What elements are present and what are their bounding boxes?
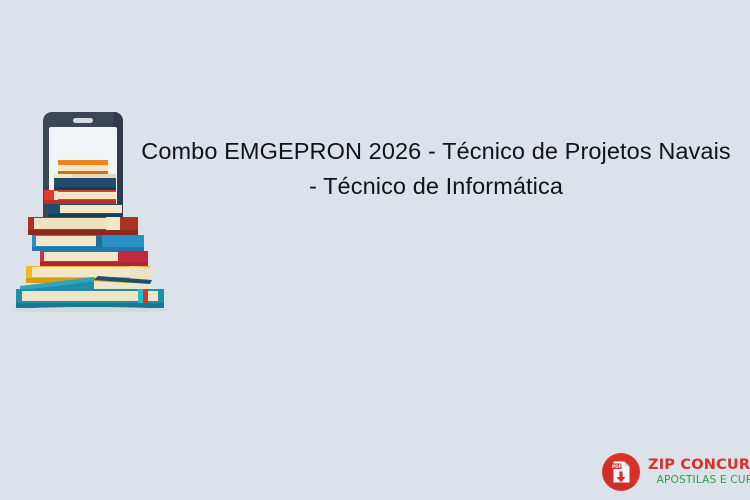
book-darkred — [28, 217, 138, 235]
brand-logo[interactable]: PDF ZIP CONCURSOS APOSTILAS E CURSOS — [601, 450, 746, 494]
book-navy-2 — [48, 204, 122, 217]
logo-title-text: ZIP CONCURSOS — [648, 458, 750, 473]
product-banner: Combo EMGEPRON 2026 - Técnico de Projeto… — [0, 0, 750, 500]
book-navy-1 — [54, 174, 116, 190]
pdf-download-icon: PDF — [601, 452, 641, 492]
svg-text:PDF: PDF — [612, 464, 622, 469]
book-crimson — [40, 251, 148, 266]
page-title: Combo EMGEPRON 2026 - Técnico de Projeto… — [136, 134, 736, 204]
book-top-orange — [58, 160, 108, 174]
book-red-1 — [44, 190, 116, 204]
logo-subtitle-text: APOSTILAS E CURSOS — [648, 475, 750, 486]
product-title-text: Combo EMGEPRON 2026 - Técnico de Projeto… — [136, 134, 736, 204]
logo-wordmark: ZIP CONCURSOS APOSTILAS E CURSOS — [648, 458, 750, 486]
book-bottom-teal — [16, 289, 164, 308]
book-blue-mid — [32, 235, 144, 251]
